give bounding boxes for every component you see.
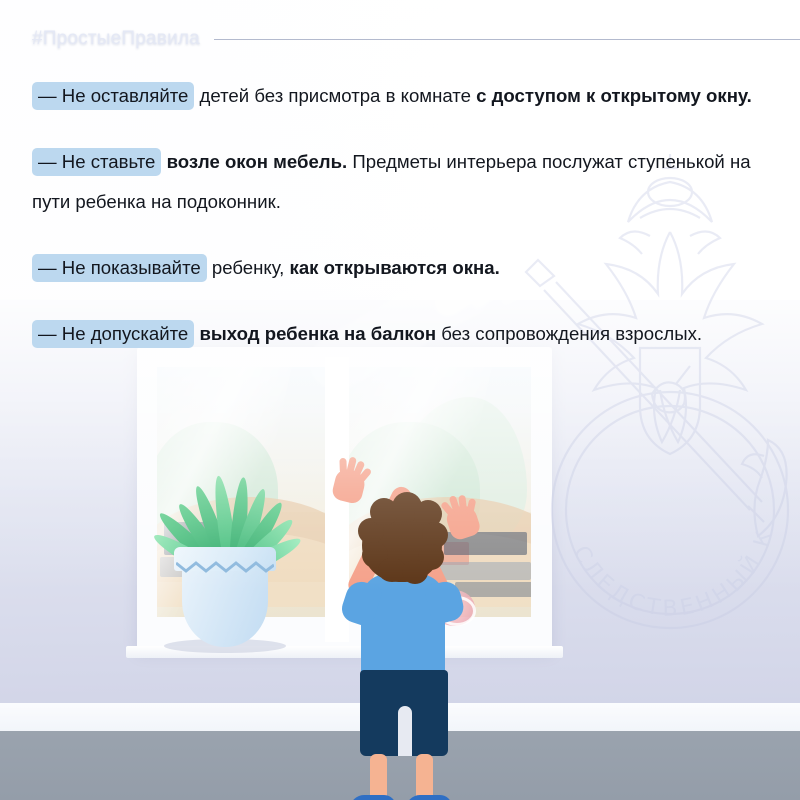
- rule-item: — Не ставьте возле окон мебель. Предметы…: [32, 142, 768, 222]
- rule-text: — Не допускайте выход ребенка на балкон …: [32, 314, 768, 354]
- rule-text: — Не ставьте возле окон мебель. Предметы…: [32, 142, 768, 222]
- rule-emphasis: как открываются окна.: [290, 257, 500, 278]
- rule-body: ребенку,: [207, 257, 290, 278]
- rule-highlight-pill: — Не оставляйте: [32, 82, 194, 110]
- rule-highlight-pill: — Не ставьте: [32, 148, 161, 176]
- rule-highlight-pill: — Не показывайте: [32, 254, 207, 282]
- poster: СЛЕДСТВЕННЫЙ КОМИТЕТ #ПростыеПравила — Н…: [0, 0, 800, 800]
- rule-item: — Не оставляйте детей без присмотра в ко…: [32, 76, 768, 116]
- header-divider: [214, 39, 800, 40]
- rule-text: — Не оставляйте детей без присмотра в ко…: [32, 76, 768, 116]
- rule-text: — Не показывайте ребенку, как открываютс…: [32, 248, 768, 288]
- content-layer: #ПростыеПравила — Не оставляйте детей бе…: [0, 0, 800, 800]
- rule-body: без сопровождения взрослых.: [436, 323, 702, 344]
- rule-emphasis: с доступом к открытому окну.: [476, 85, 752, 106]
- rule-item: — Не допускайте выход ребенка на балкон …: [32, 314, 768, 354]
- header-hashline: #ПростыеПравила: [32, 26, 800, 52]
- rule-emphasis: возле окон мебель.: [167, 151, 348, 172]
- rule-emphasis: выход ребенка на балкон: [199, 323, 436, 344]
- rule-highlight-pill: — Не допускайте: [32, 320, 194, 348]
- rule-body: детей без присмотра в комнате: [194, 85, 476, 106]
- rule-item: — Не показывайте ребенку, как открываютс…: [32, 248, 768, 288]
- hashtag-label: #ПростыеПравила: [32, 28, 200, 50]
- rules-list: — Не оставляйте детей без присмотра в ко…: [32, 76, 768, 380]
